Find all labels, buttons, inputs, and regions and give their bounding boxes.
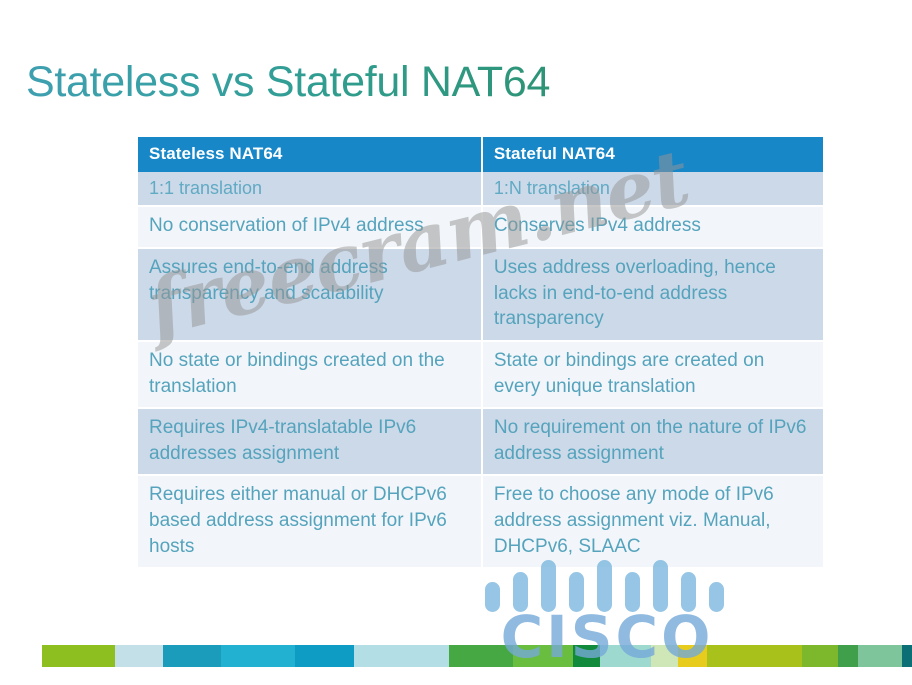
color-bar-segment: [707, 645, 802, 667]
color-bar-segment: [295, 645, 353, 667]
cell-stateless: 1:1 translation: [138, 172, 482, 206]
color-bar-segment: [163, 645, 220, 667]
table-row: Requires IPv4-translatable IPv6 addresse…: [138, 408, 823, 475]
color-bar-segment: [858, 645, 902, 667]
color-bar-segment: [802, 645, 838, 667]
color-bar-segment: [678, 645, 706, 667]
cisco-bridge-bar: [625, 572, 640, 612]
color-bar-segment: [42, 645, 115, 667]
column-header-stateful: Stateful NAT64: [482, 137, 823, 172]
color-bar-segment: [449, 645, 514, 667]
color-bar-segment: [838, 645, 858, 667]
cell-stateless: Requires either manual or DHCPv6 based a…: [138, 475, 482, 568]
color-bar-segment: [354, 645, 449, 667]
column-header-stateless: Stateless NAT64: [138, 137, 482, 172]
comparison-table: Stateless NAT64 Stateful NAT64 1:1 trans…: [138, 137, 823, 569]
cell-stateless: Assures end-to-end address transparency …: [138, 248, 482, 341]
cell-stateless: No state or bindings created on the tran…: [138, 341, 482, 408]
comparison-table-container: Stateless NAT64 Stateful NAT64 1:1 trans…: [138, 137, 823, 569]
table-row: Requires either manual or DHCPv6 based a…: [138, 475, 823, 568]
cisco-bridge-bar: [513, 572, 528, 612]
color-bar-segment: [651, 645, 678, 667]
color-bar-segment: [0, 645, 42, 667]
color-bar-segment: [221, 645, 296, 667]
color-bar-segment: [513, 645, 572, 667]
table-row: 1:1 translation 1:N translation: [138, 172, 823, 206]
cisco-bridge-bar: [569, 572, 584, 612]
table-row: Assures end-to-end address transparency …: [138, 248, 823, 341]
table-row: No conservation of IPv4 address Conserve…: [138, 206, 823, 248]
cisco-bridge-bar: [681, 572, 696, 612]
color-bar-segment: [902, 645, 912, 667]
cell-stateful: State or bindings are created on every u…: [482, 341, 823, 408]
cell-stateless: No conservation of IPv4 address: [138, 206, 482, 248]
table-row: No state or bindings created on the tran…: [138, 341, 823, 408]
cell-stateful: Conserves IPv4 address: [482, 206, 823, 248]
page-title: Stateless vs Stateful NAT64: [26, 58, 550, 107]
color-bar-segment: [600, 645, 651, 667]
cisco-bridge-bar: [485, 582, 500, 612]
cisco-bridge-bar: [709, 582, 724, 612]
color-bar-segment: [573, 645, 600, 667]
cell-stateful: Uses address overloading, hence lacks in…: [482, 248, 823, 341]
slide-canvas: Stateless vs Stateful NAT64 Stateless NA…: [0, 0, 912, 685]
cell-stateful: No requirement on the nature of IPv6 add…: [482, 408, 823, 475]
cell-stateless: Requires IPv4-translatable IPv6 addresse…: [138, 408, 482, 475]
brand-color-bar: [0, 645, 912, 667]
cell-stateful: Free to choose any mode of IPv6 address …: [482, 475, 823, 568]
color-bar-segment: [115, 645, 163, 667]
table-header-row: Stateless NAT64 Stateful NAT64: [138, 137, 823, 172]
cell-stateful: 1:N translation: [482, 172, 823, 206]
